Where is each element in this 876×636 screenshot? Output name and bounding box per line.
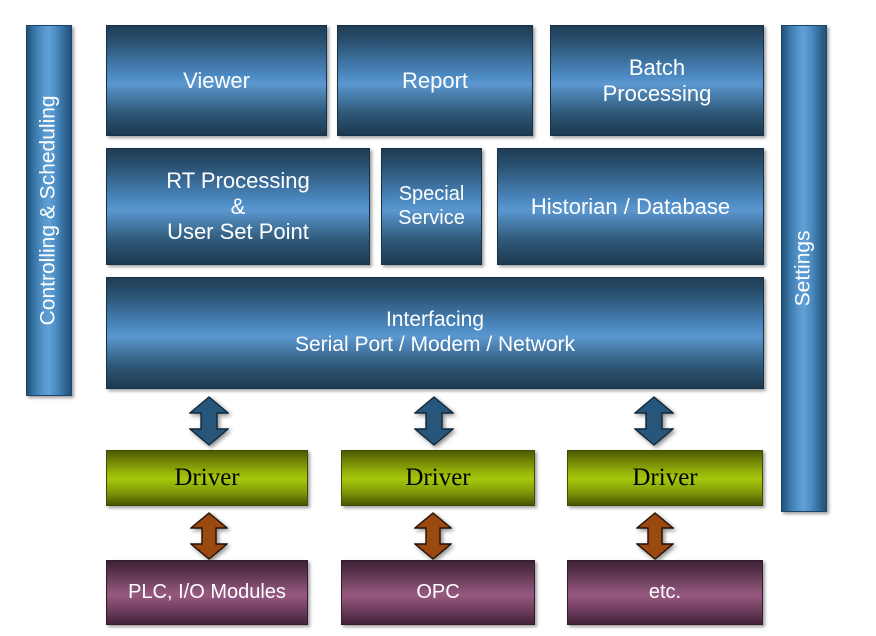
pillar-settings[interactable]: Settings [781,25,827,512]
pillar-controlling-scheduling[interactable]: Controlling & Scheduling [26,25,72,396]
block-driver-3[interactable]: Driver [567,450,763,506]
block-special-service-label: Special Service [398,183,465,230]
architecture-diagram: Controlling & Scheduling Viewer Report B… [0,0,876,636]
block-device-etc-label: etc. [649,581,681,605]
block-historian-database[interactable]: Historian / Database [497,148,764,265]
block-rt-processing[interactable]: RT Processing & User Set Point [106,148,370,265]
double-arrow-vertical-icon-driver-device-2 [414,512,452,560]
double-arrow-vertical-icon-interfacing-driver-2 [414,396,454,446]
block-special-service[interactable]: Special Service [381,148,482,265]
block-device-plc-io-modules-label: PLC, I/O Modules [128,581,286,605]
pillar-settings-label: Settings [792,231,817,307]
block-device-opc[interactable]: OPC [341,560,535,625]
block-driver-1[interactable]: Driver [106,450,308,506]
block-driver-2-label: Driver [405,463,470,493]
block-report[interactable]: Report [337,25,533,136]
block-device-etc[interactable]: etc. [567,560,763,625]
double-arrow-vertical-icon-driver-device-3 [636,512,674,560]
block-historian-database-label: Historian / Database [531,194,730,220]
block-batch-processing[interactable]: Batch Processing [550,25,764,136]
block-viewer-label: Viewer [183,68,250,94]
block-report-label: Report [402,68,468,94]
block-batch-processing-label: Batch Processing [603,55,712,107]
block-viewer[interactable]: Viewer [106,25,327,136]
block-device-opc-label: OPC [416,581,459,605]
double-arrow-vertical-icon-interfacing-driver-1 [189,396,229,446]
block-interfacing-label: Interfacing Serial Port / Modem / Networ… [295,308,575,358]
block-device-plc-io-modules[interactable]: PLC, I/O Modules [106,560,308,625]
double-arrow-vertical-icon-driver-device-1 [190,512,228,560]
block-driver-2[interactable]: Driver [341,450,535,506]
block-driver-3-label: Driver [632,463,697,493]
double-arrow-vertical-icon-interfacing-driver-3 [634,396,674,446]
block-rt-processing-label: RT Processing & User Set Point [166,168,309,246]
block-driver-1-label: Driver [174,463,239,493]
block-interfacing[interactable]: Interfacing Serial Port / Modem / Networ… [106,277,764,389]
pillar-controlling-scheduling-label: Controlling & Scheduling [37,96,62,326]
